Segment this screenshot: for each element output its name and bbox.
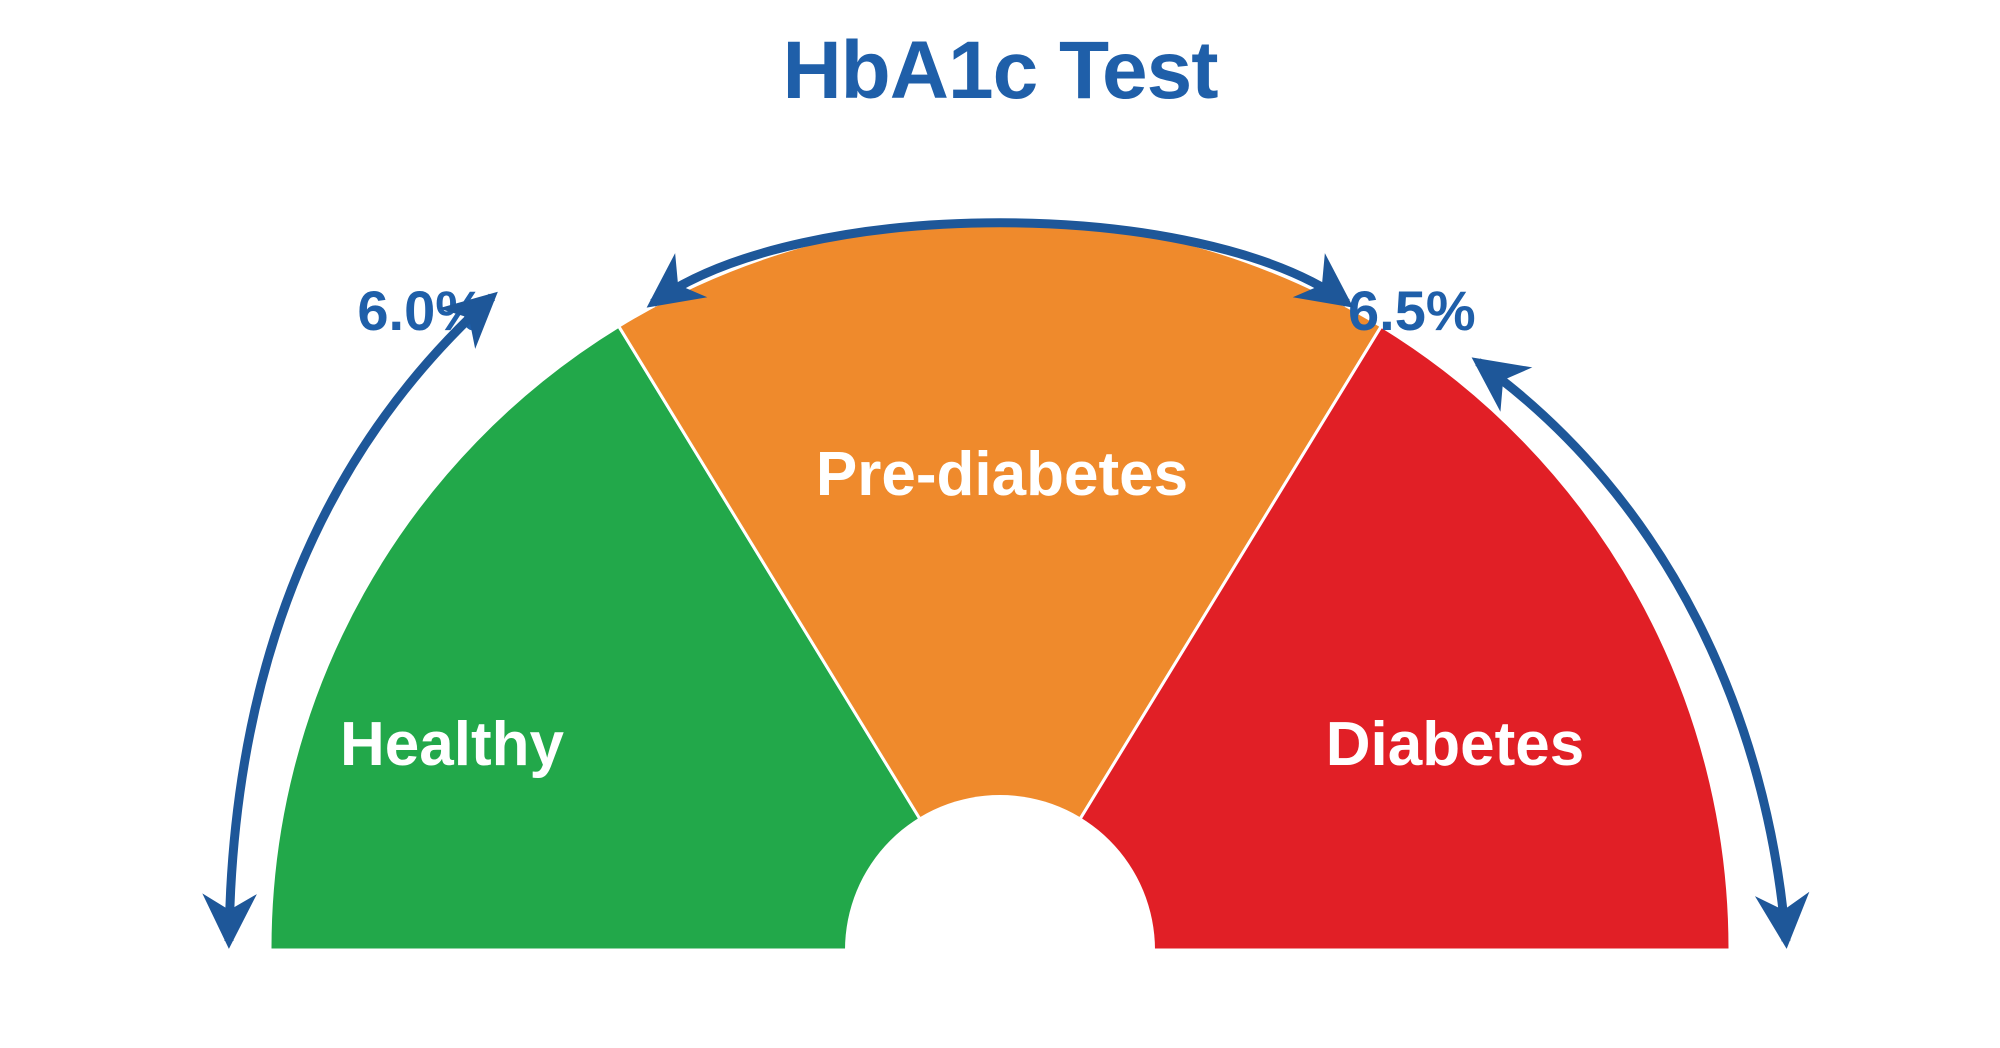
segment-label-diabetes: Diabetes: [1326, 710, 1584, 779]
segment-label-pre-diabetes: Pre-diabetes: [816, 440, 1188, 509]
infographic-canvas: HbA1c Test Healthy Pre-diabetes Diabetes…: [0, 0, 2000, 1048]
hba1c-gauge-chart: Healthy Pre-diabetes Diabetes 6.0% 6.5%: [0, 0, 2000, 1048]
threshold-label-low: 6.0%: [357, 279, 485, 342]
gauge-baseline-mask: [180, 951, 1820, 1048]
threshold-label-high: 6.5%: [1348, 279, 1476, 342]
segment-label-healthy: Healthy: [340, 710, 564, 779]
